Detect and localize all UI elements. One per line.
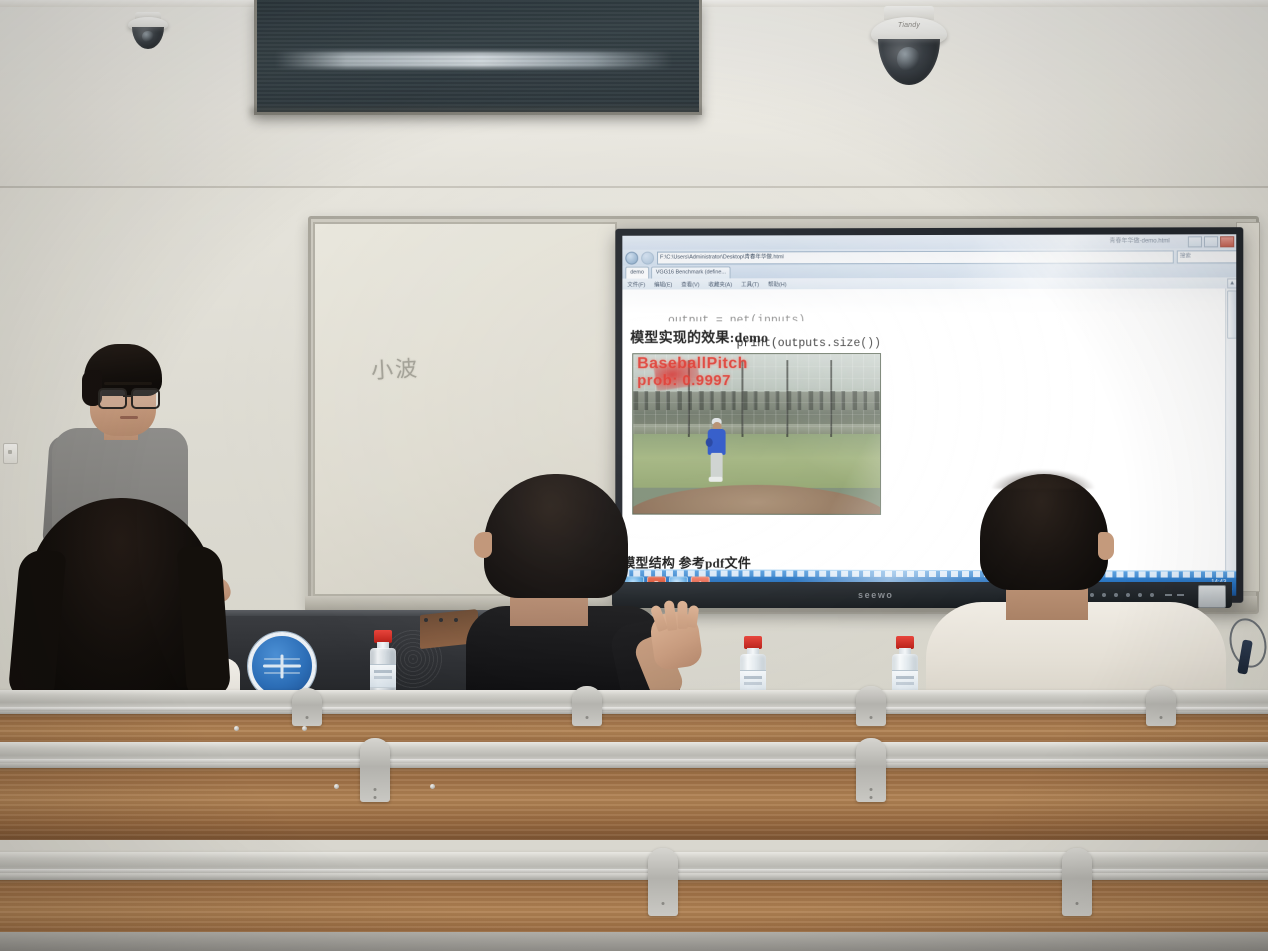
bench-rail — [0, 690, 1268, 714]
code-line-clipped: output = net(inputs) — [668, 313, 881, 321]
display-brand-label: seewo — [858, 590, 894, 600]
student-right-ear — [1098, 532, 1114, 560]
back-arrow-icon[interactable] — [625, 251, 638, 264]
video-class-label: BaseballPitch — [637, 355, 748, 372]
bench-bracket — [856, 738, 886, 802]
student-right-hair — [980, 474, 1108, 590]
menu-view[interactable]: 查看(V) — [681, 280, 699, 288]
seated-student-right — [920, 474, 1250, 708]
bench-bracket — [572, 686, 602, 726]
emblem-mark-icon — [263, 665, 301, 668]
presenter-brow — [104, 382, 152, 385]
camera-brand-label: Tiandy — [898, 22, 920, 29]
student-center-hair — [484, 474, 628, 598]
ceiling-air-grille — [254, 0, 702, 115]
dome-camera-left — [126, 12, 170, 52]
search-input[interactable]: 搜索 — [1177, 250, 1236, 263]
minimize-button[interactable] — [1188, 236, 1202, 247]
bench-bracket — [360, 738, 390, 802]
menu-tools[interactable]: 工具(T) — [741, 280, 759, 288]
menu-help[interactable]: 帮助(H) — [768, 280, 787, 288]
ceiling-fixture-shadow — [250, 108, 702, 122]
wall-seam-upper — [0, 186, 1268, 188]
browser-window-title: 青春年华做-demo.html — [1109, 235, 1169, 244]
lecture-hall-photo: Tiandy 小波 青春年华做-demo.html — [0, 0, 1268, 951]
bench-screw — [334, 784, 339, 789]
bench-screw — [302, 726, 307, 731]
forward-arrow-icon[interactable] — [641, 251, 654, 264]
floor-strip — [0, 932, 1268, 951]
tab-vgg16-benchmark[interactable]: VGG16 Benchmark (define... — [651, 266, 731, 278]
close-button[interactable] — [1220, 236, 1234, 247]
bottle-label — [370, 664, 396, 688]
window-controls[interactable] — [1188, 236, 1234, 247]
slide-heading: 模型实现的效果:demo — [630, 327, 768, 347]
camera-lens-icon — [897, 47, 921, 71]
bench-row-2 — [0, 742, 1268, 862]
camera-lens-icon — [142, 31, 154, 42]
tab-demo[interactable]: demo — [625, 267, 649, 279]
bench-screw — [430, 784, 435, 789]
presenter-glasses-icon — [98, 388, 158, 406]
scroll-up-icon[interactable]: ▲ — [1227, 278, 1236, 288]
bench-bracket — [648, 848, 678, 916]
seated-student-left — [10, 498, 240, 708]
seated-student-center — [466, 470, 736, 708]
wall-switch[interactable] — [3, 443, 18, 464]
student-center-ear — [474, 532, 492, 558]
url-input[interactable]: F:\C:\Users\Administrator\Desktop\青春年华做.… — [657, 250, 1174, 264]
camera-dome — [878, 39, 940, 85]
dome-camera-right: Tiandy — [866, 6, 952, 92]
bench-rail — [0, 742, 1268, 768]
hanging-cable — [1226, 614, 1266, 692]
bench-bracket — [1146, 686, 1176, 726]
camera-dome — [132, 27, 164, 49]
lectern-port-holes — [424, 618, 458, 622]
video-prediction-overlay: BaseballPitch prob: 0.9997 — [637, 355, 748, 389]
bench-bracket — [856, 686, 886, 726]
menu-edit[interactable]: 编辑(E) — [654, 280, 672, 288]
whiteboard-handwriting: 小波 — [370, 351, 420, 385]
bench-wood-panel — [0, 764, 1268, 840]
video-prob-label: prob: 0.9997 — [637, 372, 748, 389]
presenter-mouth — [120, 416, 138, 419]
student-left-hair — [28, 498, 214, 694]
scrollbar-thumb[interactable] — [1227, 290, 1236, 338]
bench-screw — [234, 726, 239, 731]
bench-bracket — [1062, 848, 1092, 916]
bench-bracket — [292, 688, 322, 726]
maximize-button[interactable] — [1204, 236, 1218, 247]
student-center-raised-hand — [648, 609, 703, 671]
menu-file[interactable]: 文件(F) — [627, 280, 645, 288]
menu-favorites[interactable]: 收藏夹(A) — [708, 280, 732, 288]
